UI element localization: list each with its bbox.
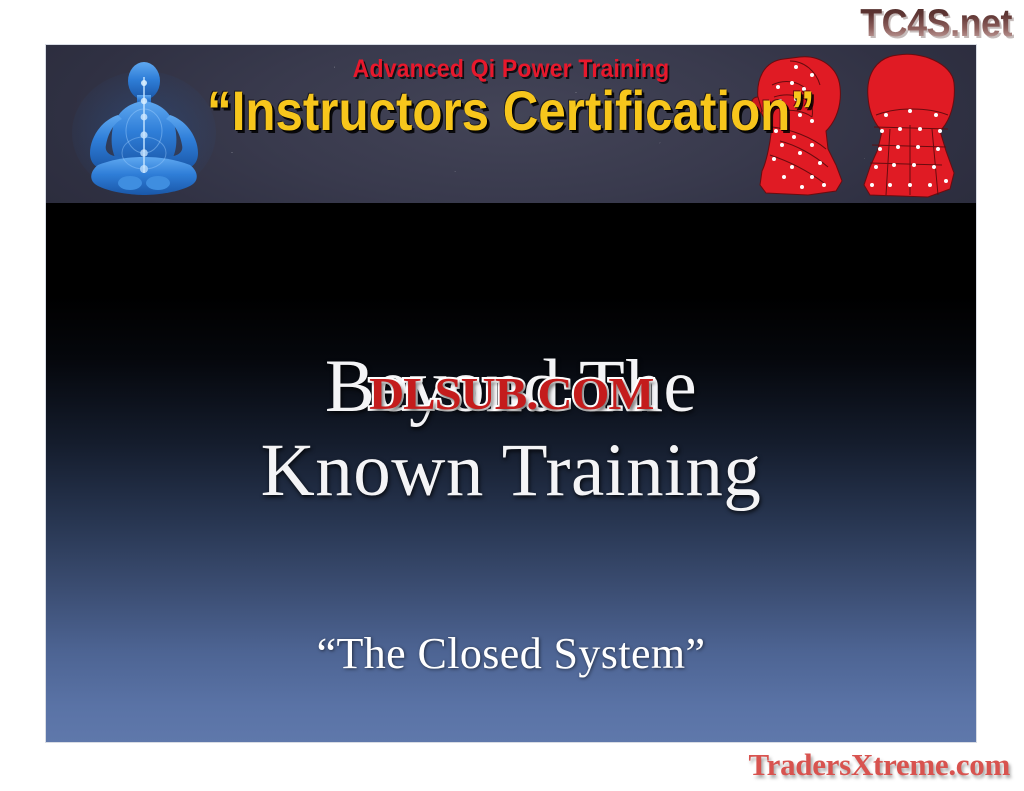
slide-subhead: “The Closed System” <box>46 628 976 679</box>
course-banner: Advanced Qi Power Training “Instructors … <box>46 45 976 203</box>
presentation-slide: Advanced Qi Power Training “Instructors … <box>45 44 977 743</box>
watermark-top-right: TC4S.net <box>860 2 1012 46</box>
document-page: TC4S.net TC4S.net <box>0 0 1024 791</box>
slide-headline: Beyond The Known Training <box>46 345 976 513</box>
watermark-bottom-right: TradersXtreme.com <box>749 747 1010 783</box>
banner-title-text: “Instructors Certification” <box>102 82 920 141</box>
